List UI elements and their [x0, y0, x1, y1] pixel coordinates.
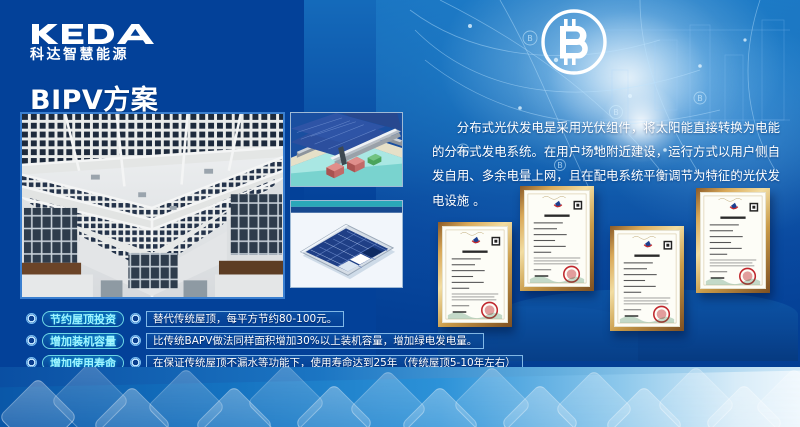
feature-row: 增加装机容量 比传统BAPV做法同样面积增加30%以上装机容量，增加绿电发电量。 [26, 330, 446, 351]
svg-text:B: B [697, 94, 703, 103]
bullet-dot-icon [26, 313, 37, 324]
certificate-frame[interactable] [610, 226, 684, 331]
brand-name-cn: 科达智慧能源 [30, 48, 160, 62]
poster-canvas: BB B@ B 科达智慧能源 BIPV方案 [0, 0, 800, 427]
footer-decorative-strip [0, 367, 800, 427]
feature-description: 比传统BAPV做法同样面积增加30%以上装机容量，增加绿电发电量。 [146, 333, 484, 349]
bullet-dot-icon [130, 313, 141, 324]
certificate-frame[interactable] [520, 186, 594, 291]
feature-row: 节约屋顶投资 替代传统屋顶，每平方节约80-100元。 [26, 308, 446, 329]
bullet-dot-icon [26, 335, 37, 346]
atrium-skylight-photo [20, 112, 285, 299]
panel-mounting-detail-3d [290, 112, 403, 187]
brand-logo: 科达智慧能源 [30, 22, 160, 62]
feature-description: 替代传统屋顶，每平方节约80-100元。 [146, 311, 344, 327]
bullet-dot-icon [130, 335, 141, 346]
certificate-frame[interactable] [438, 222, 512, 327]
feature-label: 增加装机容量 [42, 333, 124, 349]
feature-list: 节约屋顶投资 替代传统屋顶，每平方节约80-100元。 增加装机容量 比传统BA… [26, 308, 446, 374]
certificate-frame[interactable] [696, 188, 770, 293]
feature-label: 节约屋顶投资 [42, 311, 124, 327]
certificate-gallery [438, 186, 800, 356]
bitcoin-circle-icon [538, 6, 610, 78]
svg-text:B: B [527, 34, 533, 43]
rhombus-tiles [0, 367, 800, 427]
keda-wordmark-icon [30, 22, 158, 46]
solar-module-3d [290, 200, 403, 288]
